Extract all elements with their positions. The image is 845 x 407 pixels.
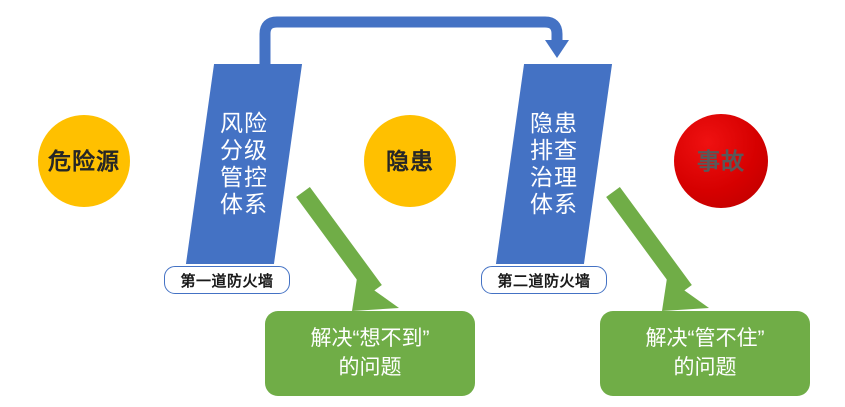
result-arrow-1	[303, 192, 399, 311]
result-1-line-2: 的问题	[339, 354, 402, 382]
hidden-danger-label: 隐患	[386, 150, 434, 173]
system-1-line-1: 风险	[220, 110, 268, 137]
system-1-line-3: 管控	[220, 164, 268, 191]
accident-circle[interactable]: 事故	[674, 114, 768, 208]
hidden-danger-circle[interactable]: 隐患	[364, 115, 456, 207]
risk-grading-control-system-shape[interactable]: 风险 分级 管控 体系	[186, 64, 302, 264]
first-firewall-label[interactable]: 第一道防火墙	[164, 266, 290, 294]
second-firewall-label[interactable]: 第二道防火墙	[481, 266, 607, 294]
result-1-line-1: 解决“想不到”	[311, 325, 430, 353]
second-firewall-text: 第二道防火墙	[497, 270, 590, 291]
hazard-source-circle[interactable]: 危险源	[38, 115, 130, 207]
result-cannot-think-of-box[interactable]: 解决“想不到” 的问题	[265, 311, 475, 396]
system-1-line-2: 分级	[220, 137, 268, 164]
system-2-line-1: 隐患	[530, 110, 578, 137]
first-firewall-text: 第一道防火墙	[180, 270, 273, 291]
diagram-canvas: 危险源 风险 分级 管控 体系 第一道防火墙 隐患 隐患 排查 治理 体系 第二…	[0, 0, 845, 407]
result-cannot-control-box[interactable]: 解决“管不住” 的问题	[600, 311, 810, 396]
hidden-danger-investigation-system-text: 隐患 排查 治理 体系	[510, 64, 598, 264]
result-arrow-2	[613, 192, 709, 311]
system-2-line-2: 排查	[530, 137, 578, 164]
result-2-line-1: 解决“管不住”	[646, 325, 765, 353]
system-1-line-4: 体系	[220, 191, 268, 218]
accident-label: 事故	[697, 150, 745, 173]
result-2-line-2: 的问题	[674, 354, 737, 382]
feedback-arrow	[265, 22, 569, 70]
hazard-source-label: 危险源	[48, 150, 120, 173]
hidden-danger-investigation-system-shape[interactable]: 隐患 排查 治理 体系	[496, 64, 612, 264]
risk-grading-control-system-text: 风险 分级 管控 体系	[200, 64, 288, 264]
system-2-line-3: 治理	[530, 164, 578, 191]
system-2-line-4: 体系	[530, 191, 578, 218]
